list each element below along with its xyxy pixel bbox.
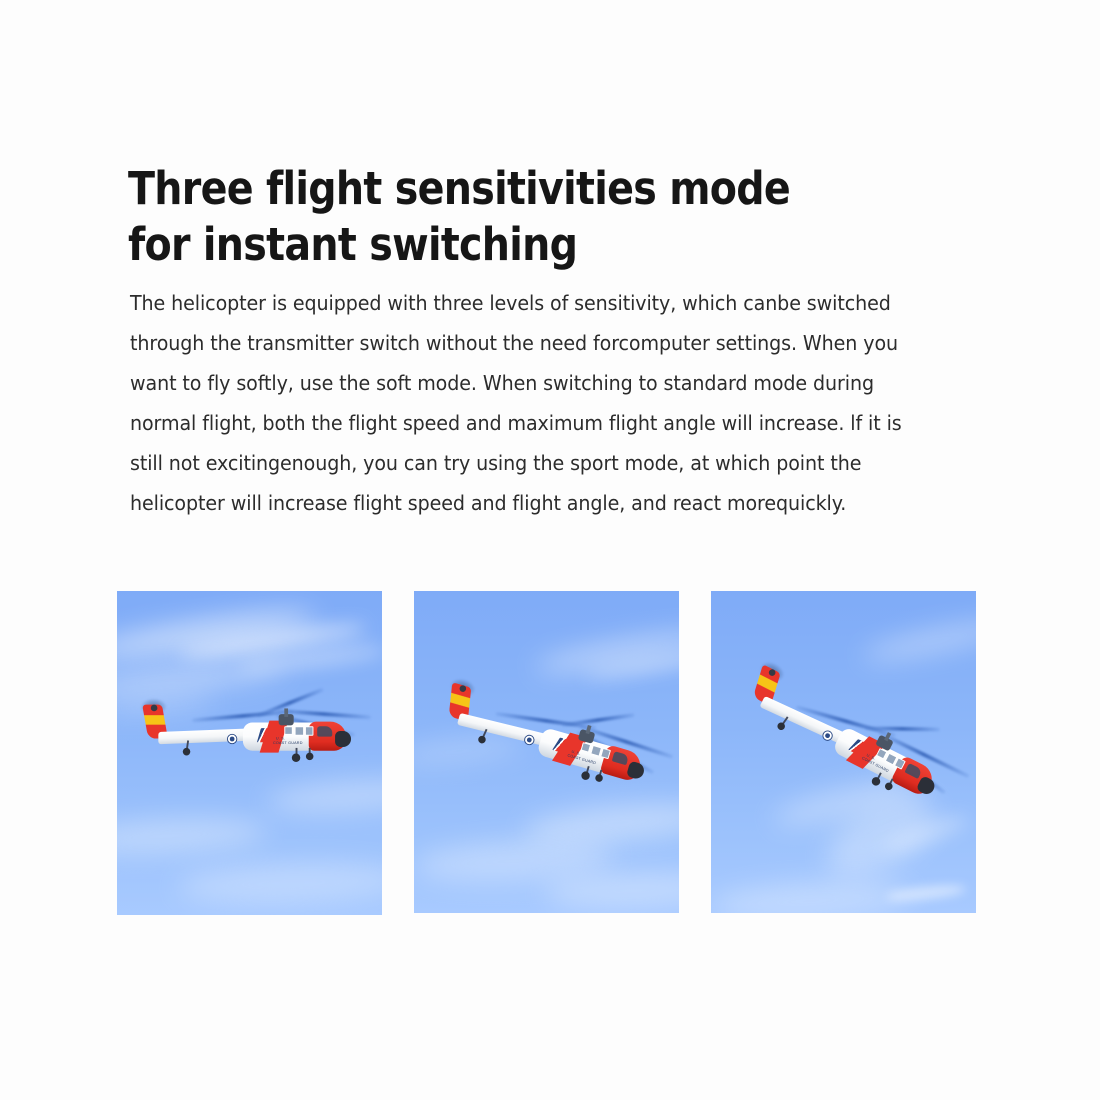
helicopter-illustration: U. S. COAST GUARD bbox=[134, 692, 350, 771]
feature-description: The helicopter is equipped with three le… bbox=[130, 283, 911, 523]
national-roundel bbox=[227, 734, 237, 744]
rotor-blade-icon bbox=[562, 713, 635, 727]
main-wheel bbox=[292, 754, 300, 762]
livery-text-line2: COAST GUARD bbox=[273, 740, 303, 745]
standard-mode-photo[interactable]: U. S. COAST GUARD bbox=[414, 591, 679, 913]
helicopter-illustration: U. S. COAST GUARD bbox=[726, 649, 954, 818]
main-wheel bbox=[580, 770, 590, 780]
product-feature-page: Three flight sensitivities mode for inst… bbox=[0, 0, 1100, 1100]
main-wheel bbox=[306, 753, 314, 761]
sport-mode-photo[interactable]: U. S. COAST GUARD bbox=[711, 591, 976, 913]
rotor-mast bbox=[284, 708, 288, 716]
tail-rotor-hub bbox=[151, 705, 158, 712]
photo-gallery: U. S. COAST GUARD bbox=[117, 591, 977, 915]
cabin-window bbox=[305, 726, 313, 735]
nose-tip bbox=[335, 731, 351, 747]
soft-mode-photo[interactable]: U. S. COAST GUARD bbox=[117, 591, 382, 915]
tail-wheel bbox=[477, 735, 486, 744]
main-wheel bbox=[884, 781, 894, 791]
tail-wheel bbox=[183, 748, 191, 756]
helicopter-illustration: U. S. COAST GUARD bbox=[426, 667, 656, 802]
main-wheel bbox=[594, 773, 603, 782]
cockpit-window bbox=[317, 726, 332, 736]
main-wheel bbox=[870, 776, 881, 787]
page-title: Three flight sensitivities mode for inst… bbox=[128, 161, 858, 273]
cabin-window bbox=[295, 726, 304, 735]
cabin-window bbox=[284, 726, 292, 734]
